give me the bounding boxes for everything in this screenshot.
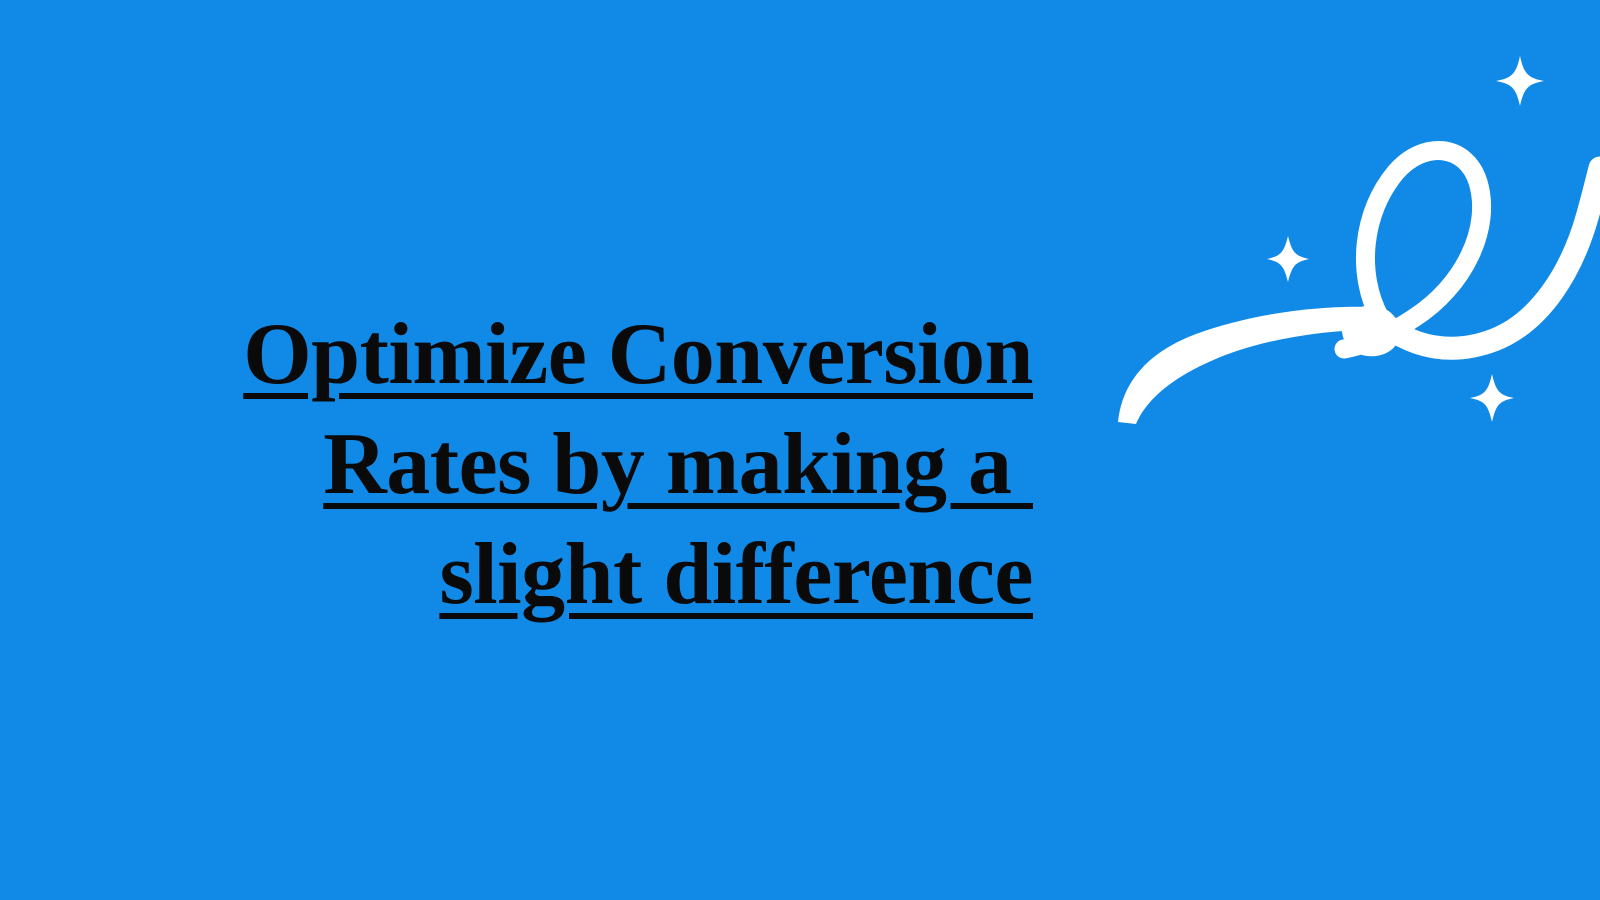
headline-line-1: Optimize Conversion bbox=[120, 300, 1033, 410]
headline: Optimize Conversion Rates by making a sl… bbox=[120, 300, 1033, 630]
sparkle-top-right-icon bbox=[1496, 56, 1544, 106]
swirl-flourish-icon bbox=[1118, 150, 1600, 424]
sparkle-bottom-right-icon bbox=[1470, 374, 1514, 422]
headline-line-2: Rates by making a bbox=[120, 410, 1033, 520]
headline-line-3: slight difference bbox=[120, 520, 1033, 630]
sparkle-middle-icon bbox=[1267, 236, 1309, 282]
slide-canvas: Optimize Conversion Rates by making a sl… bbox=[0, 0, 1600, 900]
